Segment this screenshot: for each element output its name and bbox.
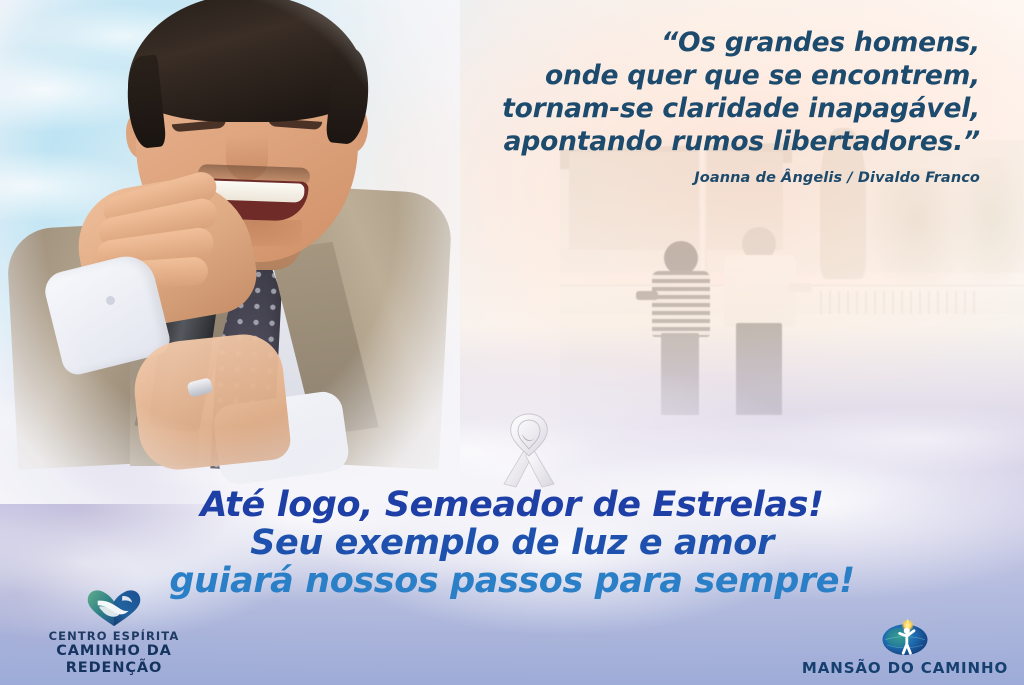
mourning-ribbon-icon [494, 408, 564, 488]
quote-block: “Os grandes homens, onde quer que se enc… [420, 26, 980, 186]
message-line-2: Seu exemplo de luz e amor [0, 524, 1024, 562]
heart-hands-icon [14, 586, 214, 628]
logo-left-line-1: CENTRO ESPÍRITA [14, 630, 214, 643]
globe-torch-figure-icon [800, 616, 1010, 658]
memorial-message: Até logo, Semeador de Estrelas! Seu exem… [0, 486, 1024, 600]
quote-line-4: apontando rumos libertadores.” [420, 125, 980, 158]
quote-line-3: tornam-se claridade inapagável, [420, 92, 980, 125]
logo-left-line-2: CAMINHO DA REDENÇÃO [14, 643, 214, 677]
logo-right-line-2: MANSÃO DO CAMINHO [800, 660, 1010, 677]
logo-mansao-do-caminho: MANSÃO DO CAMINHO [800, 616, 1010, 677]
memorial-poster: “Os grandes homens, onde quer que se enc… [0, 0, 1024, 685]
quote-line-2: onde quer que se encontrem, [420, 59, 980, 92]
quote-attribution: Joanna de Ângelis / Divaldo Franco [420, 170, 980, 186]
quote-line-1: “Os grandes homens, [420, 26, 980, 59]
message-line-1: Até logo, Semeador de Estrelas! [0, 486, 1024, 524]
portrait-divaldo-franco [10, 0, 440, 464]
logo-centro-espirita: CENTRO ESPÍRITA CAMINHO DA REDENÇÃO [14, 586, 214, 677]
